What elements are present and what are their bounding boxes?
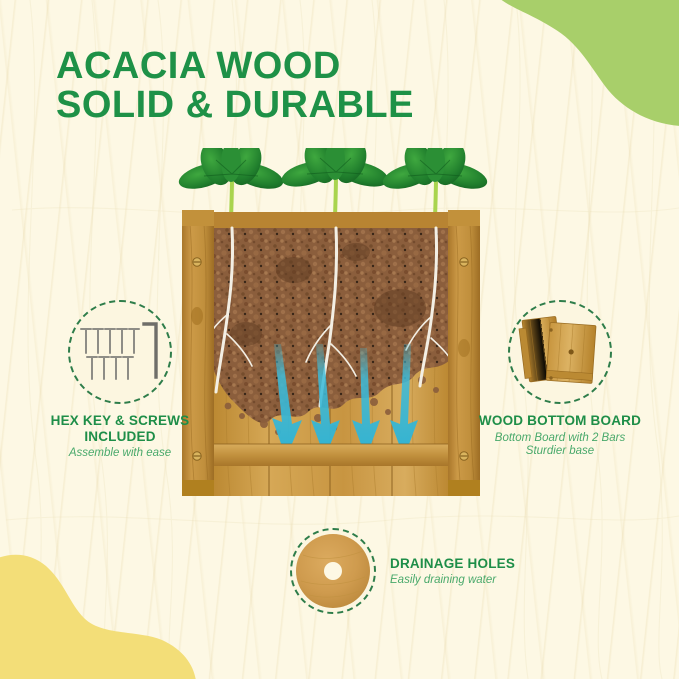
- feature-title: HEX KEY & SCREWS INCLUDED: [18, 413, 222, 444]
- hex-key-and-screws-icon: [68, 300, 172, 404]
- infographic-canvas: ACACIA WOOD SOLID & DURABLE: [0, 0, 679, 679]
- feature-subtitle: Assemble with ease: [18, 447, 222, 461]
- drainage-hole-disc-icon: [290, 528, 376, 614]
- feature-title: WOOD BOTTOM BOARD: [455, 413, 665, 429]
- feature-drainage-holes: DRAINAGE HOLES Easily draining water: [290, 528, 540, 614]
- feature-subtitle: Easily draining water: [390, 574, 515, 588]
- decorative-blob-top-right: [471, 0, 679, 128]
- feature-hex-key-screws: HEX KEY & SCREWS INCLUDED Assemble with …: [18, 300, 222, 461]
- feature-wood-bottom-board: WOOD BOTTOM BOARD Bottom Board with 2 Ba…: [455, 300, 665, 459]
- planter-top-rail: [204, 212, 458, 228]
- planter-bottom-rail: [204, 444, 458, 466]
- feature-subtitle: Bottom Board with 2 Bars Sturdier base: [455, 432, 665, 460]
- feature-title: DRAINAGE HOLES: [390, 556, 515, 572]
- page-title: ACACIA WOOD SOLID & DURABLE: [56, 47, 414, 125]
- wood-bottom-board-icon: [508, 300, 612, 404]
- decorative-blob-bottom-left: [0, 546, 208, 679]
